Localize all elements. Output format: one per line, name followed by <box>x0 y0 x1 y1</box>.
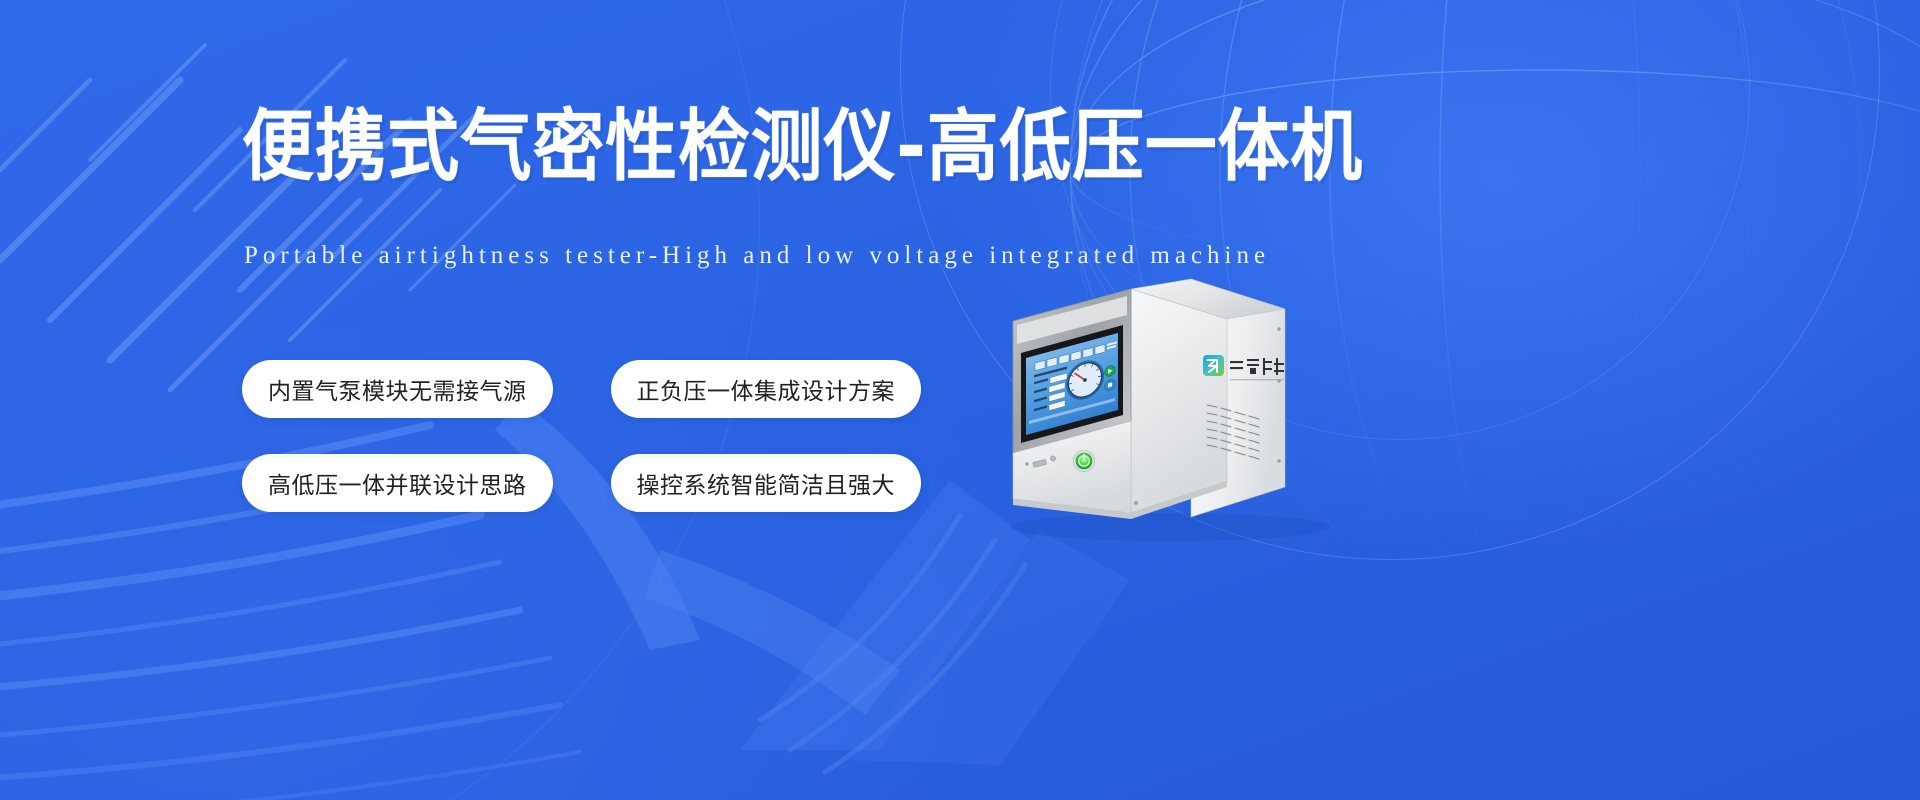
feature-pill[interactable]: 高低压一体并联设计思路 <box>242 454 553 512</box>
feature-pill-list: 内置气泵模块无需接气源 正负压一体集成设计方案 高低压一体并联设计思路 操控系统… <box>242 360 942 548</box>
feature-pill-row: 高低压一体并联设计思路 操控系统智能简洁且强大 <box>242 454 942 512</box>
feature-pill[interactable]: 操控系统智能简洁且强大 <box>611 454 922 512</box>
power-button-illustration <box>1074 451 1095 472</box>
feature-pill-row: 内置气泵模块无需接气源 正负压一体集成设计方案 <box>242 360 942 418</box>
feature-pill[interactable]: 内置气泵模块无需接气源 <box>242 360 553 418</box>
hero-banner: 便携式气密性检测仪-高低压一体机 Portable airtightness t… <box>0 0 1920 800</box>
feature-pill[interactable]: 正负压一体集成设计方案 <box>611 360 922 418</box>
page-title: 便携式气密性检测仪-高低压一体机 <box>242 108 1363 186</box>
product-image <box>955 255 1375 555</box>
